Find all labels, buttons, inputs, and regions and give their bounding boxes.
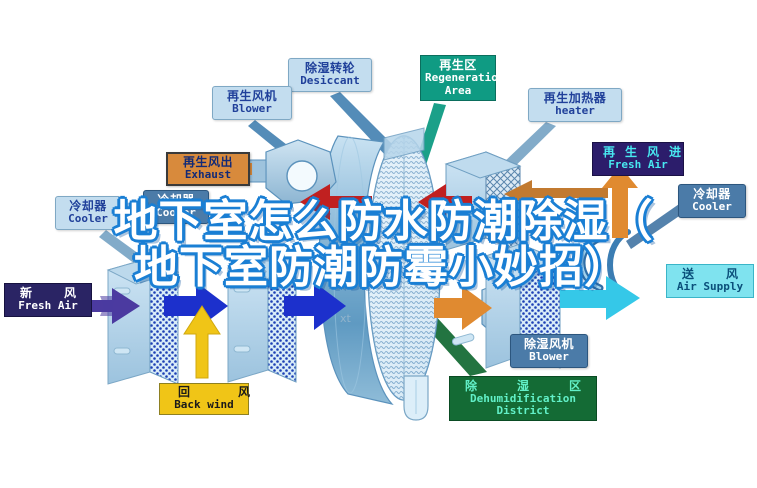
diagram-canvas: xt <box>0 0 757 488</box>
label-cooler-center-en: Cooler <box>144 207 208 219</box>
label-regeneration-exhaust: 再生风出 Exhaust <box>166 152 250 186</box>
label-regeneration-exhaust-cn: 再生风出 <box>168 156 248 169</box>
label-cooler-right-en: Cooler <box>679 201 745 213</box>
dehumidifier-schematic: xt <box>0 0 757 488</box>
label-cooler-center-cn: 冷却器 <box>144 194 208 207</box>
label-air-supply-en: Air Supply <box>667 281 753 293</box>
label-dehumidification-district-cn: 除 湿 区 <box>450 380 596 393</box>
label-cooler-left-cn: 冷却器 <box>56 200 120 213</box>
label-regeneration-heater-en: heater <box>529 105 621 117</box>
label-cooler-right: 冷却器 Cooler <box>678 184 746 218</box>
label-desiccant-rotor-cn: 除湿转轮 <box>289 62 371 75</box>
label-back-wind: 回 风 Back wind <box>159 383 249 415</box>
label-dehumidification-blower-cn: 除湿风机 <box>511 338 587 351</box>
label-air-supply-cn: 送 风 <box>667 268 753 281</box>
cooling-coil-left <box>108 258 178 384</box>
label-regeneration-blower-en: Blower <box>213 103 291 115</box>
label-regeneration-area-en: Regeneration Area <box>425 72 491 97</box>
condensate-drain <box>404 376 428 420</box>
label-desiccant-rotor-en: Desiccant <box>289 75 371 87</box>
label-regeneration-fresh-air-in-cn: 再生风进 <box>593 146 683 159</box>
label-dehumidification-blower: 除湿风机 Blower <box>510 334 588 368</box>
arrow-regen-fresh-air-in <box>602 166 638 238</box>
label-cooler-center: 冷却器 Cooler <box>143 190 209 224</box>
label-regeneration-area: 再生区 Regeneration Area <box>420 55 496 101</box>
label-regeneration-exhaust-en: Exhaust <box>168 169 248 181</box>
label-cooler-right-cn: 冷却器 <box>679 188 745 201</box>
label-fresh-air-in-en: Fresh Air <box>5 300 91 312</box>
label-back-wind-en: Back wind <box>160 399 248 411</box>
label-fresh-air-in: 新 风 Fresh Air <box>4 283 92 317</box>
label-back-wind-cn: 回 风 <box>160 386 248 399</box>
label-desiccant-rotor: 除湿转轮 Desiccant <box>288 58 372 92</box>
cooling-coil-mid <box>228 256 296 382</box>
svg-text:xt: xt <box>340 312 352 325</box>
arrow-supply-air <box>560 276 640 320</box>
arrow-back-wind <box>184 306 220 378</box>
label-dehumidification-district: 除 湿 区 Dehumidification District <box>449 376 597 421</box>
label-fresh-air-in-cn: 新 风 <box>5 287 91 300</box>
label-regeneration-fresh-air-in: 再生风进 Fresh Air <box>592 142 684 176</box>
label-regeneration-fresh-air-in-en: Fresh Air <box>593 159 683 171</box>
label-air-supply: 送 风 Air Supply <box>666 264 754 298</box>
label-regeneration-heater-cn: 再生加热器 <box>529 92 621 105</box>
label-dehumidification-district-en: Dehumidification District <box>450 393 596 416</box>
label-regeneration-heater: 再生加热器 heater <box>528 88 622 122</box>
label-regeneration-area-cn: 再生区 <box>425 59 491 72</box>
desiccant-rotor-wheel: xt <box>320 136 440 404</box>
label-cooler-left-en: Cooler <box>56 213 120 225</box>
label-regeneration-blower-cn: 再生风机 <box>213 90 291 103</box>
label-cooler-left: 冷却器 Cooler <box>55 196 121 230</box>
label-dehumidification-blower-en: Blower <box>511 351 587 363</box>
label-regeneration-blower: 再生风机 Blower <box>212 86 292 120</box>
